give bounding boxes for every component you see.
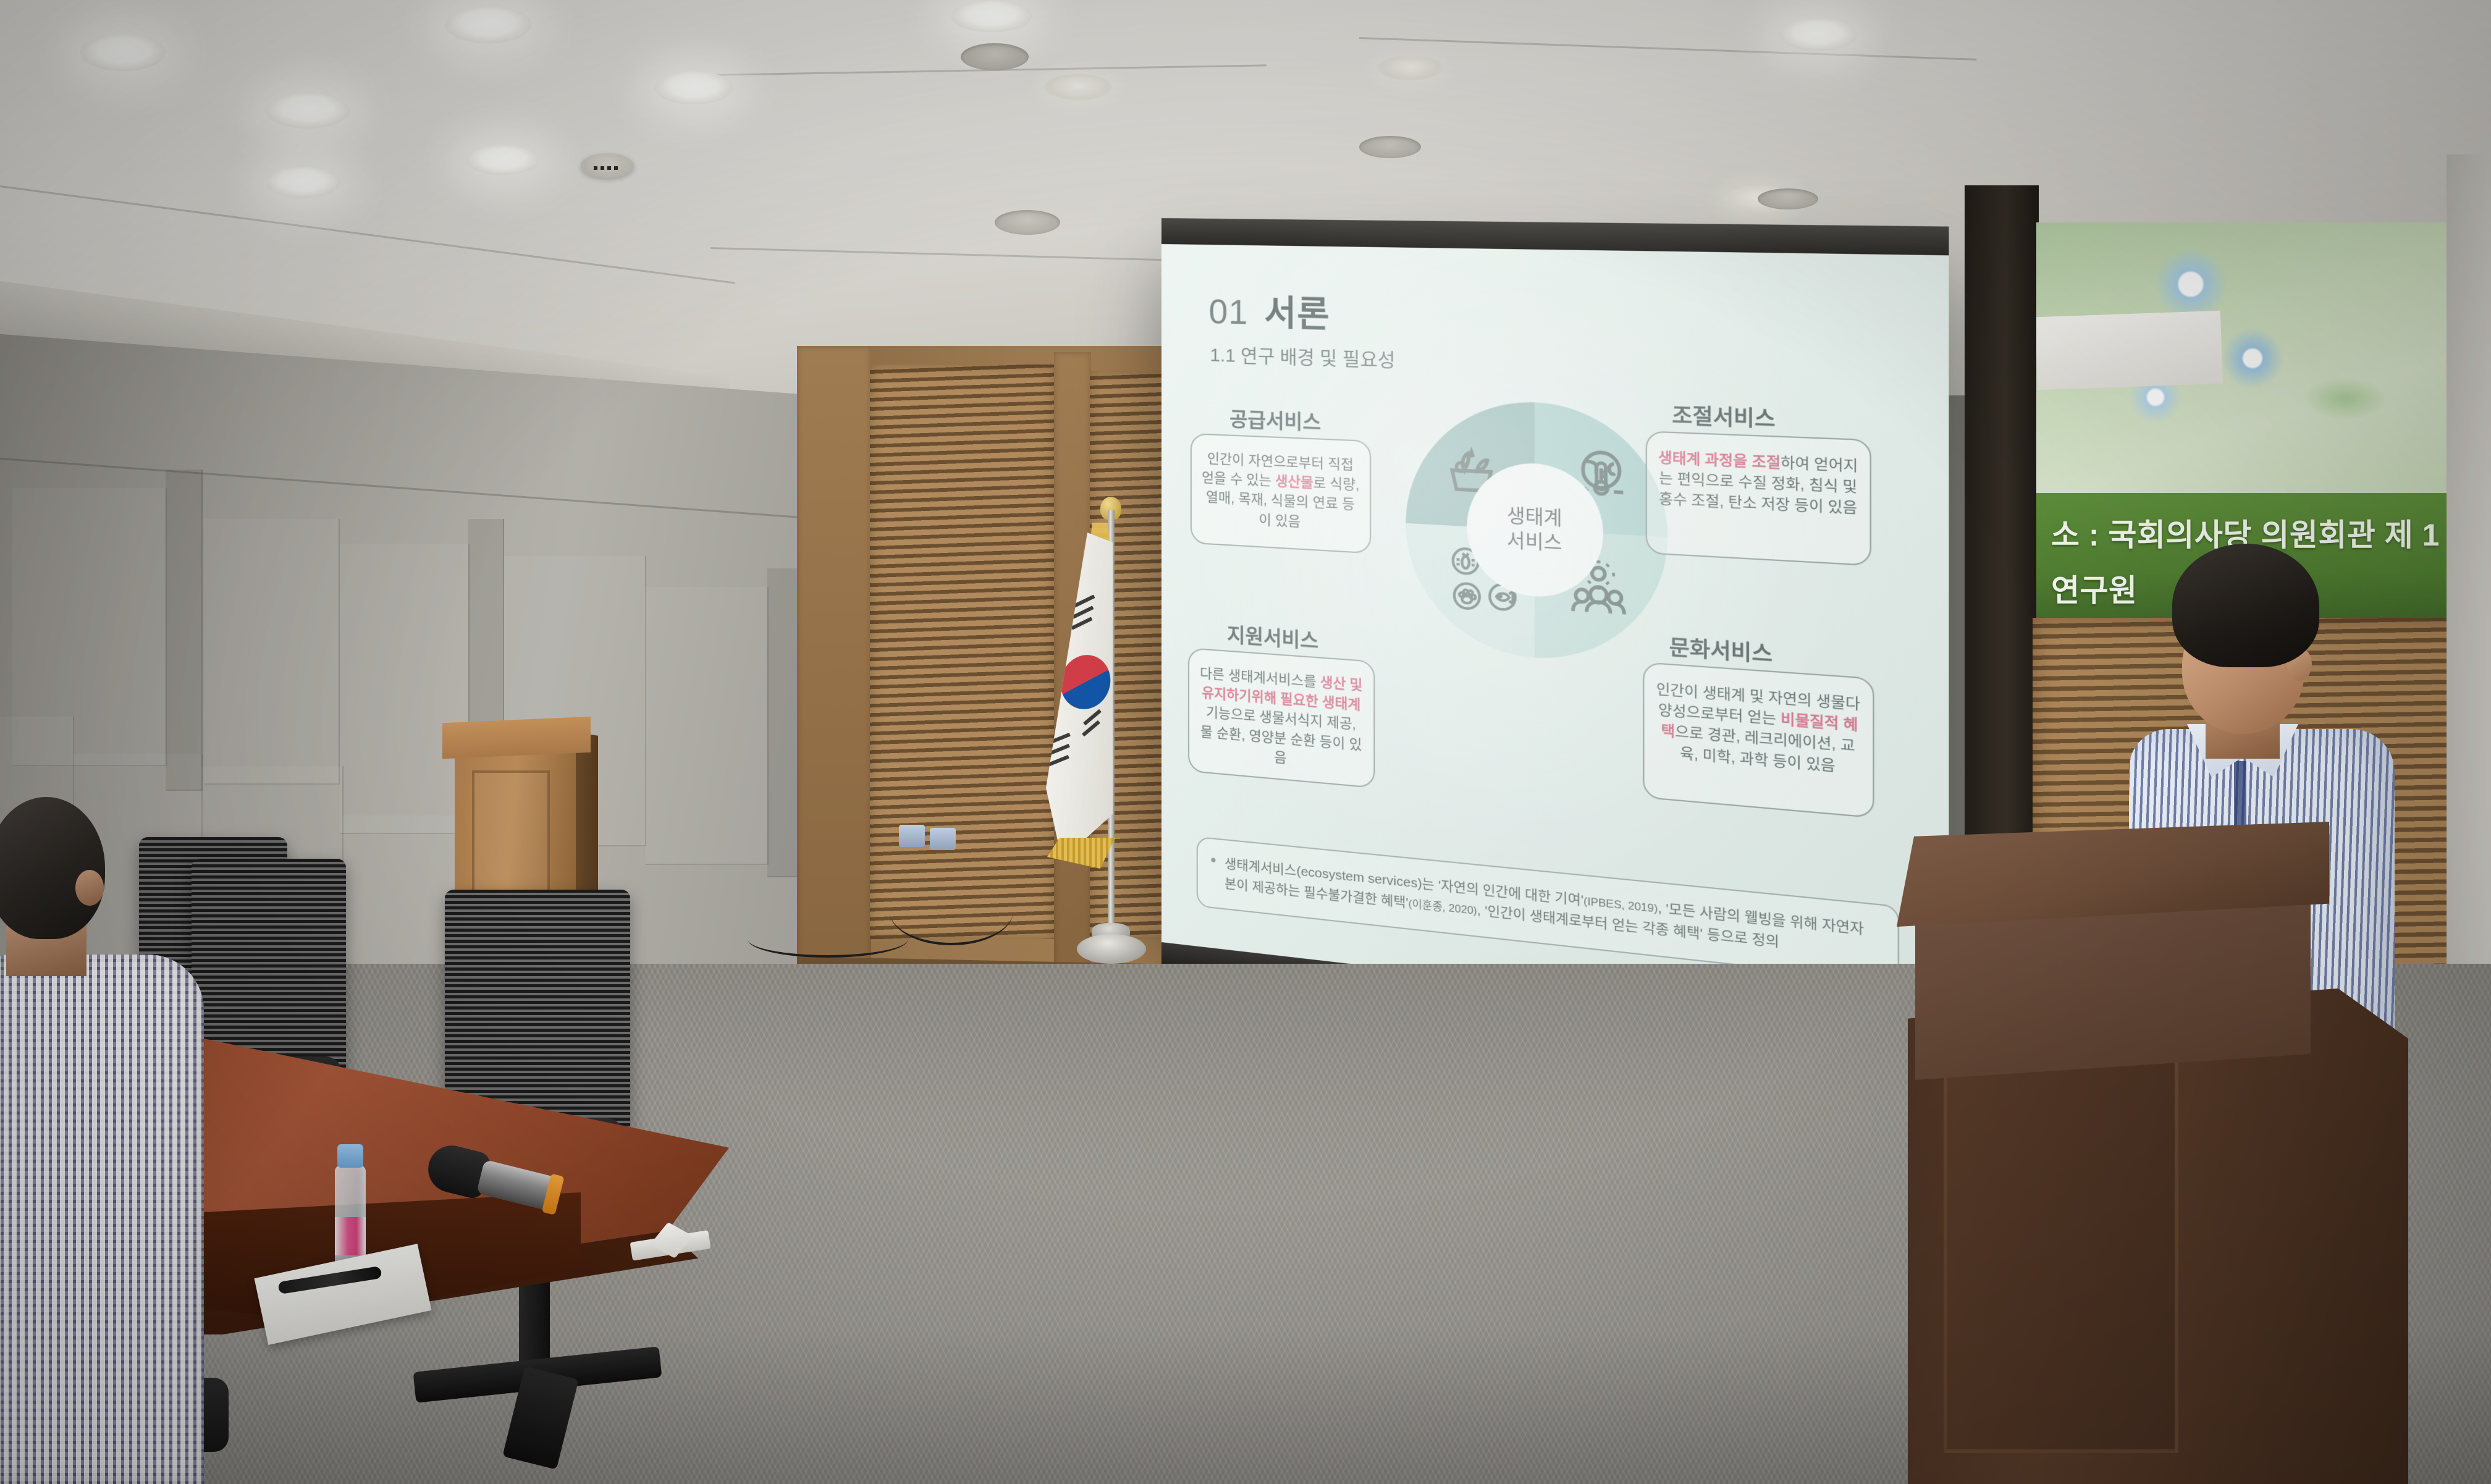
service-box-regulating: 생태계 과정을 조절하여 얻어지는 편익으로 수질 정화, 침식 및 홍수 조절… (1646, 431, 1871, 566)
wall-outlet[interactable] (930, 828, 956, 850)
service-box-cultural: 인간이 생태계 및 자연의 생물다양성으로부터 얻는 비물질적 혜택으로 경관,… (1643, 662, 1874, 818)
ceiling-vent (995, 210, 1060, 235)
footnote-text-2: , '모든 사람의 웰빙을 위해 자연자본이 제공하는 필수불가결한 혜택' (1224, 877, 1864, 937)
audience-member (0, 797, 303, 1484)
ceiling-downlight (1779, 19, 1857, 51)
ceiling-downlight (266, 167, 340, 198)
service-label-regulating: 조절서비스 (1672, 398, 1776, 433)
flag-fringe (1047, 838, 1115, 869)
service-supply-highlight: 생산물 (1275, 473, 1313, 491)
donut-center-line2: 서비스 (1507, 531, 1562, 554)
service-label-supply: 공급서비스 (1229, 403, 1321, 436)
service-supporting-post: 기능으로 생물서식지 제공, 물 순환, 영양분 순환 등이 있음 (1200, 704, 1362, 765)
ceiling-downlight (1378, 56, 1443, 80)
taegukgi-korean-flag (1022, 494, 1208, 964)
ceiling-downlight (445, 6, 531, 43)
donut-center-line1: 생태계 (1507, 506, 1562, 529)
audience-shirt (0, 955, 204, 1484)
projection-screen: 01서론 1.1 연구 배경 및 필요성 (1161, 244, 1949, 1032)
footnote-cite-1: (IPBES, 2019) (1583, 895, 1658, 915)
taeguk-symbol (1053, 646, 1113, 719)
presenter-hair (2172, 544, 2319, 667)
bottle-cap[interactable] (337, 1144, 363, 1168)
footnote-cite-2: (이훈종, 2020) (1409, 898, 1477, 917)
wall-outlet[interactable] (899, 825, 925, 847)
service-regulating-highlight: 생태계 과정을 조절 (1658, 449, 1781, 471)
podium-front-panel (1944, 1058, 2178, 1453)
seminar-room-photo: 01서론 1.1 연구 배경 및 필요성 (0, 0, 2491, 1484)
service-box-supporting: 다른 생태계서비스를 생산 및 유지하기위해 필요한 생태계 기능으로 생물서식… (1188, 647, 1375, 788)
flag-base (1077, 934, 1146, 964)
presentation-slide: 01서론 1.1 연구 배경 및 필요성 (1161, 244, 1949, 1032)
paw-icon (1452, 581, 1482, 611)
lectern-top (442, 717, 591, 759)
bottle-label (335, 1217, 366, 1255)
slide-subtitle: 1.1 연구 배경 및 필요성 (1210, 339, 1395, 373)
banner-leaf-decoration (2302, 377, 2388, 420)
slide-section-number: 01 (1209, 292, 1249, 332)
slide-section-title: 서론 (1264, 293, 1330, 334)
audience-head (0, 797, 105, 939)
service-label-cultural: 문화서비스 (1669, 631, 1772, 668)
footnote-bullet-icon (1211, 858, 1215, 862)
ceiling-downlight (466, 145, 539, 175)
ceiling-vent (1359, 136, 1421, 158)
ceiling-downlight (80, 34, 166, 71)
smoke-detector-icon (581, 153, 634, 178)
slide-title: 01서론 (1209, 284, 1330, 337)
ceiling-vent (1758, 188, 1818, 209)
banner-flower-decoration (2222, 327, 2283, 389)
ceiling-downlight (655, 71, 733, 104)
flag-cloth (1046, 533, 1113, 860)
ceiling-downlight (951, 0, 1032, 32)
ceiling-vent (961, 43, 1029, 70)
audience-ear (75, 870, 104, 906)
banner-white-card (2036, 311, 2223, 390)
podium (1897, 822, 2447, 1484)
ecosystem-services-donut-diagram: 생태계 서비스 (1406, 398, 1667, 667)
ceiling-downlight (1044, 74, 1112, 100)
ceiling-downlight (266, 93, 350, 129)
service-label-supporting: 지원서비스 (1227, 619, 1318, 654)
service-box-supply: 인간이 자연으로부터 직접 얻을 수 있는 생산물로 식량, 열매, 목재, 식… (1191, 433, 1371, 554)
